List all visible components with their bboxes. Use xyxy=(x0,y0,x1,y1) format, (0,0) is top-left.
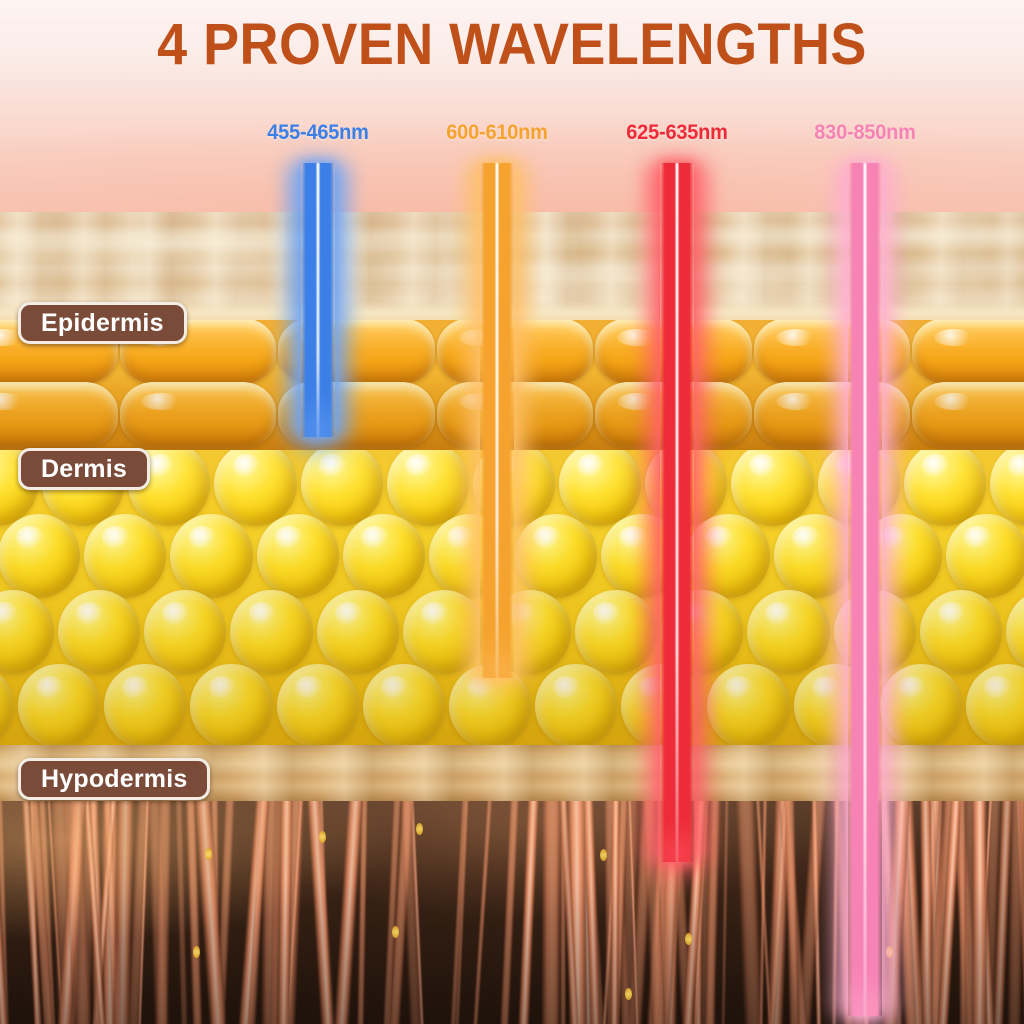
dermis-cell xyxy=(343,514,425,598)
epidermis-cell xyxy=(912,320,1024,384)
fiber-node xyxy=(416,823,423,835)
layer-hypodermis xyxy=(0,801,1024,1024)
layer-badge-hypodermis: Hypodermis xyxy=(18,758,210,800)
dermis-cell xyxy=(946,514,1024,598)
dermis-cell xyxy=(170,514,252,598)
muscle-fiber xyxy=(721,801,729,1024)
dermis-cell xyxy=(363,664,445,745)
dermis-cell xyxy=(257,514,339,598)
muscle-fiber xyxy=(972,801,988,1024)
dermis-cell xyxy=(58,590,140,674)
fiber-node xyxy=(886,946,893,958)
muscle-fiber xyxy=(610,801,619,1024)
layer-badge-epidermis: Epidermis xyxy=(18,302,187,344)
dermis-cell xyxy=(575,590,657,674)
muscle-fiber xyxy=(473,801,493,1024)
dermis-cell xyxy=(317,590,399,674)
dermis-cell xyxy=(0,590,54,674)
muscle-fiber xyxy=(959,801,967,1024)
fiber-node xyxy=(600,849,607,861)
dermis-cell-row xyxy=(0,664,1024,745)
dermis-cell xyxy=(190,664,272,745)
dermis-cell xyxy=(860,514,942,598)
epidermis-cell xyxy=(120,382,277,448)
dermis-cell xyxy=(601,514,683,598)
epidermis-cell xyxy=(278,382,435,448)
dermis-cell xyxy=(104,664,186,745)
wavelength-label-3: 625-635nm xyxy=(626,121,727,145)
dermis-cell xyxy=(489,590,571,674)
infographic-poster: 4 PROVEN WAVELENGTHS 455-465nm600-610nm6… xyxy=(0,0,1024,1024)
layer-badge-dermis: Dermis xyxy=(18,448,150,490)
epidermis-cell xyxy=(437,382,594,448)
epidermis-cell xyxy=(437,320,594,384)
dermis-cell xyxy=(966,664,1024,745)
dermis-cell xyxy=(84,514,166,598)
dermis-cell xyxy=(834,590,916,674)
layer-dermis xyxy=(0,450,1024,745)
muscle-fiber xyxy=(542,801,562,1024)
muscle-fiber xyxy=(500,801,520,1024)
dermis-cell-row xyxy=(0,590,1024,674)
muscle-fiber xyxy=(175,801,188,1024)
dermis-cell xyxy=(449,664,531,745)
page-title: 4 PROVEN WAVELENGTHS xyxy=(36,16,988,74)
fiber-node xyxy=(392,926,399,938)
muscle-fiber xyxy=(155,801,171,1024)
muscle-fiber xyxy=(518,801,540,1024)
dermis-cell xyxy=(621,664,703,745)
dermis-cell xyxy=(707,664,789,745)
dermis-cell xyxy=(535,664,617,745)
dermis-cell xyxy=(0,664,14,745)
wavelength-label-4: 830-850nm xyxy=(814,121,915,145)
dermis-cell xyxy=(747,590,829,674)
dermis-cell xyxy=(794,664,876,745)
dermis-cell xyxy=(403,590,485,674)
dermis-cell xyxy=(429,514,511,598)
dermis-cell-row xyxy=(0,514,1024,598)
dermis-cell xyxy=(687,514,769,598)
epidermis-cell xyxy=(754,382,911,448)
dermis-cell xyxy=(0,514,80,598)
dermis-cell xyxy=(144,590,226,674)
dermis-cell xyxy=(230,590,312,674)
header-glow xyxy=(0,96,1024,212)
epidermis-cell xyxy=(595,382,752,448)
epidermis-cell-row xyxy=(0,382,1024,448)
dermis-cell xyxy=(880,664,962,745)
dermis-cell xyxy=(920,590,1002,674)
dermis-cell xyxy=(515,514,597,598)
dermis-cell xyxy=(1006,590,1024,674)
epidermis-cell xyxy=(278,320,435,384)
dermis-cell xyxy=(774,514,856,598)
epidermis-cell xyxy=(0,382,118,448)
epidermis-cell xyxy=(595,320,752,384)
dermis-cell xyxy=(277,664,359,745)
fiber-node xyxy=(685,933,692,945)
epidermis-cell xyxy=(754,320,911,384)
wavelength-label-2: 600-610nm xyxy=(446,121,547,145)
fiber-node xyxy=(319,831,326,843)
wavelength-label-1: 455-465nm xyxy=(267,121,368,145)
fiber-node xyxy=(625,988,632,1000)
dermis-cell xyxy=(18,664,100,745)
fiber-node xyxy=(205,848,212,860)
dermis-cell xyxy=(661,590,743,674)
epidermis-cell xyxy=(912,382,1024,448)
